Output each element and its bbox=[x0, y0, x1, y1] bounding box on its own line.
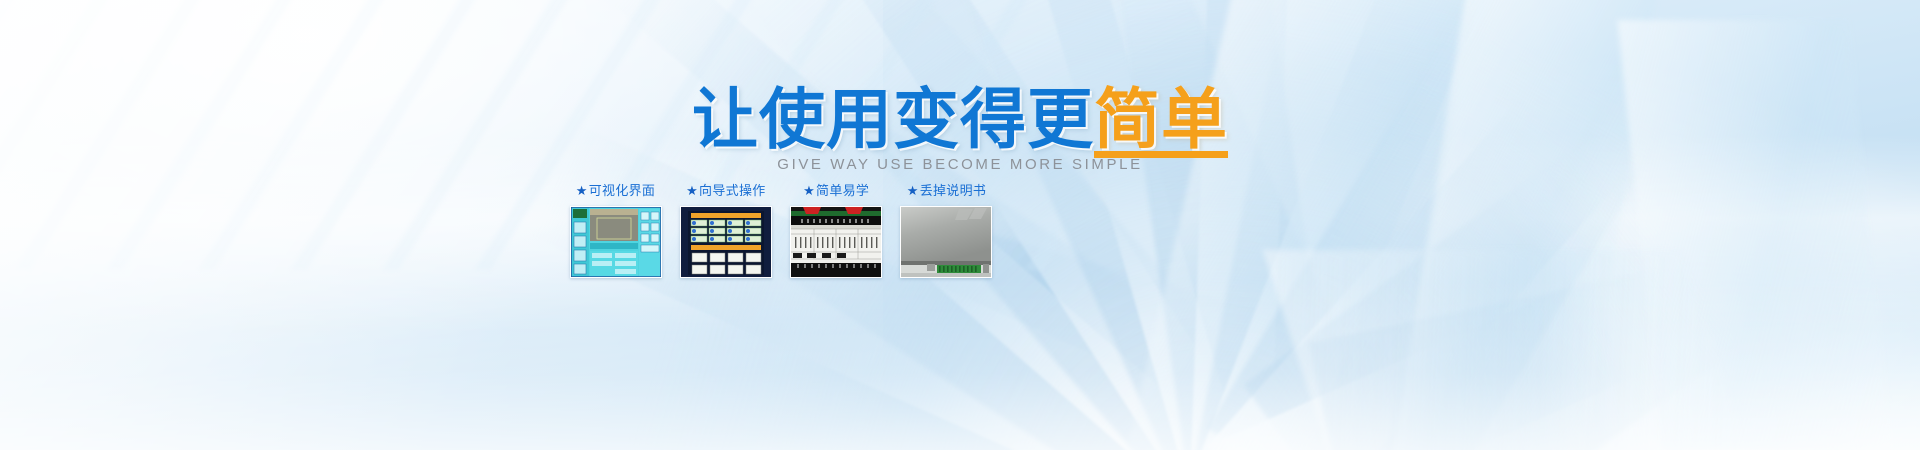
headline-blue-text: 让使用变得更 bbox=[692, 81, 1094, 158]
terminal-strip-hardware-thumbnail-image bbox=[791, 207, 881, 277]
star-icon: ★ bbox=[576, 184, 588, 199]
banner-subtitle: GIVE WAY USE BECOME MORE SIMPLE bbox=[0, 156, 1920, 173]
feature-label: ★丢掉说明书 bbox=[907, 180, 986, 199]
feature-label-text: 可视化界面 bbox=[589, 184, 656, 199]
feature-label: ★可视化界面 bbox=[576, 180, 655, 199]
feature-label: ★向导式操作 bbox=[686, 180, 765, 199]
software-screen-cyan-thumbnail-image bbox=[571, 207, 661, 277]
feature-item-no-manual[interactable]: ★丢掉说明书 bbox=[897, 180, 996, 278]
star-icon: ★ bbox=[907, 184, 919, 199]
banner-headline: 让使用变得更简单 bbox=[0, 86, 1920, 156]
wizard-panel-darkblue-thumbnail-image bbox=[681, 207, 771, 277]
star-icon: ★ bbox=[803, 184, 815, 199]
feature-thumbnail-easy-to-learn[interactable] bbox=[790, 206, 882, 278]
headline-orange-text: 简单 bbox=[1094, 86, 1228, 156]
feature-item-easy-to-learn[interactable]: ★简单易学 bbox=[787, 180, 886, 278]
hero-banner: 让使用变得更简单 GIVE WAY USE BECOME MORE SIMPLE… bbox=[0, 0, 1920, 450]
feature-label-text: 简单易学 bbox=[816, 184, 869, 199]
feature-thumbnail-no-manual[interactable] bbox=[900, 206, 992, 278]
feature-list: ★可视化界面 bbox=[566, 180, 996, 278]
feature-thumbnail-visual-interface[interactable] bbox=[570, 206, 662, 278]
feature-label-text: 丢掉说明书 bbox=[920, 184, 987, 199]
gray-device-connector-thumbnail-image bbox=[901, 207, 991, 277]
banner-content: 让使用变得更简单 GIVE WAY USE BECOME MORE SIMPLE… bbox=[0, 0, 1920, 450]
star-icon: ★ bbox=[686, 184, 698, 199]
feature-label-text: 向导式操作 bbox=[699, 184, 766, 199]
feature-item-visual-interface[interactable]: ★可视化界面 bbox=[566, 180, 665, 278]
feature-item-wizard-operation[interactable]: ★向导式操作 bbox=[676, 180, 775, 278]
feature-label: ★简单易学 bbox=[803, 180, 869, 199]
feature-thumbnail-wizard-operation[interactable] bbox=[680, 206, 772, 278]
